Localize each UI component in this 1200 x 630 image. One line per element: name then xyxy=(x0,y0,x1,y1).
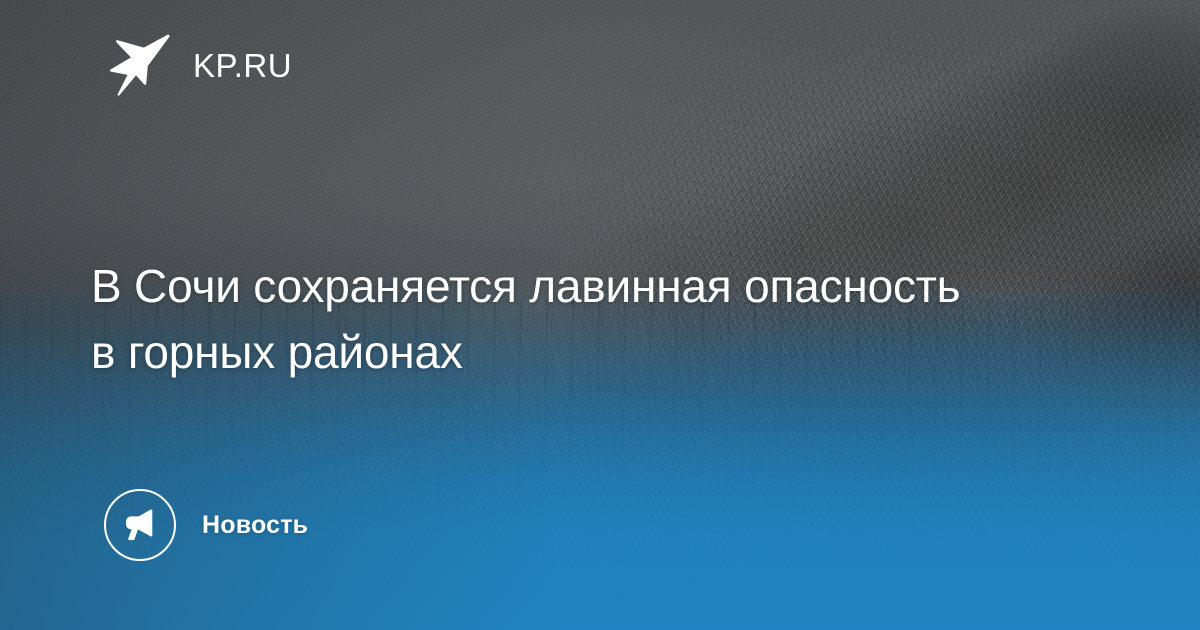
card-content: KP.RU В Сочи сохраняется лавинная опасно… xyxy=(0,0,1200,630)
brand-lockup[interactable]: KP.RU xyxy=(107,33,292,97)
swallow-bird-icon xyxy=(107,33,171,97)
social-share-card: KP.RU В Сочи сохраняется лавинная опасно… xyxy=(0,0,1200,630)
status-badge[interactable]: Новость xyxy=(104,489,308,561)
page-title: В Сочи сохраняется лавинная опасность в … xyxy=(91,253,991,385)
megaphone-icon xyxy=(104,489,176,561)
status-badge-label: Новость xyxy=(202,511,308,540)
brand-name: KP.RU xyxy=(193,49,292,82)
